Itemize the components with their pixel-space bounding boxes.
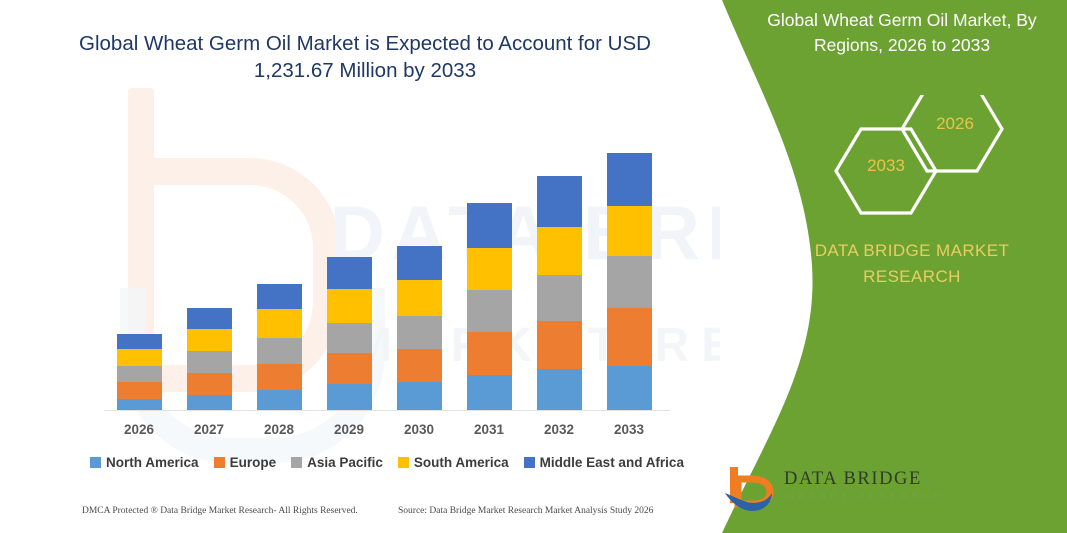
x-axis-label-2027: 2027 — [174, 422, 244, 437]
bar-segment — [257, 309, 302, 338]
legend-item[interactable]: Europe — [214, 455, 277, 470]
bar-2026 — [117, 334, 162, 411]
bar-segment — [467, 332, 512, 375]
legend-swatch-icon — [291, 457, 302, 468]
legend-label: North America — [106, 455, 199, 470]
bar-segment — [117, 334, 162, 349]
bar-segment — [187, 395, 232, 411]
legend-swatch-icon — [214, 457, 225, 468]
bar-segment — [607, 366, 652, 411]
x-axis-label-2026: 2026 — [104, 422, 174, 437]
legend-label: Asia Pacific — [307, 455, 383, 470]
bar-segment — [257, 338, 302, 364]
bar-segment — [607, 256, 652, 308]
hexagon-label-2033: 2033 — [846, 156, 926, 176]
bar-segment — [187, 373, 232, 395]
bar-segment — [397, 246, 442, 280]
bar-2030 — [397, 246, 442, 411]
bar-segment — [187, 308, 232, 329]
footer-source: Source: Data Bridge Market Research Mark… — [398, 506, 653, 516]
hexagon-label-2026: 2026 — [915, 114, 995, 134]
logo-subtitle: MARKET RESEARCH — [786, 491, 945, 501]
x-axis-label-2033: 2033 — [594, 422, 664, 437]
infographic-root: DATA BRIDGE MARKET RESEARCH Global Wheat… — [0, 0, 1067, 533]
x-axis-label-2031: 2031 — [454, 422, 524, 437]
bar-segment — [537, 275, 582, 321]
brand-name: DATA BRIDGE MARKET RESEARCH — [772, 238, 1052, 289]
bar-segment — [117, 349, 162, 366]
bar-segment — [607, 206, 652, 256]
bar-segment — [537, 227, 582, 275]
bar-2033 — [607, 153, 652, 411]
chart-panel: DATA BRIDGE MARKET RESEARCH Global Wheat… — [0, 0, 720, 533]
bar-segment — [257, 390, 302, 411]
stacked-bar-chart: 20262027202820292030203120322033 North A… — [0, 0, 720, 470]
x-axis-labels: 20262027202820292030203120322033 — [104, 420, 664, 444]
bar-segment — [327, 353, 372, 384]
footer: DMCA Protected ® Data Bridge Market Rese… — [0, 506, 700, 528]
bar-segment — [327, 289, 372, 323]
x-axis-label-2030: 2030 — [384, 422, 454, 437]
bar-segment — [607, 153, 652, 206]
company-logo: DATA BRIDGE MARKET RESEARCH — [712, 455, 1067, 527]
bar-segment — [537, 176, 582, 227]
bar-segment — [327, 257, 372, 289]
bar-segment — [467, 203, 512, 248]
hexagon-group: 2026 2033 — [700, 95, 1067, 230]
brand-panel: R Global Wheat Germ Oil Market, By Regio… — [700, 0, 1067, 533]
bar-segment — [467, 290, 512, 332]
bar-2029 — [327, 257, 372, 411]
logo-mark-icon — [722, 463, 778, 517]
bar-2032 — [537, 176, 582, 411]
bar-segment — [397, 316, 442, 349]
brand-name-line-1: DATA BRIDGE MARKET — [772, 238, 1052, 264]
legend-item[interactable]: Middle East and Africa — [524, 455, 684, 470]
legend-label: South America — [414, 455, 509, 470]
plot-area — [104, 120, 664, 411]
x-axis-label-2029: 2029 — [314, 422, 384, 437]
brand-name-line-2: RESEARCH — [772, 264, 1052, 290]
legend-label: Europe — [230, 455, 277, 470]
legend-label: Middle East and Africa — [540, 455, 684, 470]
logo-wordmark: DATA BRIDGE — [784, 469, 922, 490]
brand-panel-title: Global Wheat Germ Oil Market, By Regions… — [752, 8, 1052, 58]
bar-segment — [117, 366, 162, 382]
bar-segment — [607, 308, 652, 366]
legend-item[interactable]: South America — [398, 455, 509, 470]
legend-swatch-icon — [398, 457, 409, 468]
legend-item[interactable]: Asia Pacific — [291, 455, 383, 470]
bar-segment — [467, 375, 512, 411]
bar-2031 — [467, 203, 512, 411]
bar-2027 — [187, 308, 232, 411]
legend-swatch-icon — [90, 457, 101, 468]
bar-2028 — [257, 284, 302, 411]
bar-segment — [537, 369, 582, 411]
chart-legend: North AmericaEuropeAsia PacificSouth Ame… — [104, 455, 670, 470]
bar-segment — [327, 323, 372, 353]
x-axis-label-2028: 2028 — [244, 422, 314, 437]
x-axis-label-2032: 2032 — [524, 422, 594, 437]
bar-segment — [397, 280, 442, 316]
footer-copyright: DMCA Protected ® Data Bridge Market Rese… — [82, 506, 358, 516]
bar-segment — [537, 321, 582, 369]
legend-item[interactable]: North America — [90, 455, 199, 470]
bar-segment — [257, 364, 302, 390]
x-axis-line — [104, 410, 670, 411]
bar-segment — [187, 329, 232, 351]
bar-segment — [397, 382, 442, 411]
bar-segment — [327, 384, 372, 411]
bar-segment — [117, 382, 162, 399]
bar-segment — [187, 351, 232, 373]
legend-swatch-icon — [524, 457, 535, 468]
bar-segment — [397, 349, 442, 382]
bar-segment — [467, 248, 512, 290]
bar-segment — [257, 284, 302, 309]
